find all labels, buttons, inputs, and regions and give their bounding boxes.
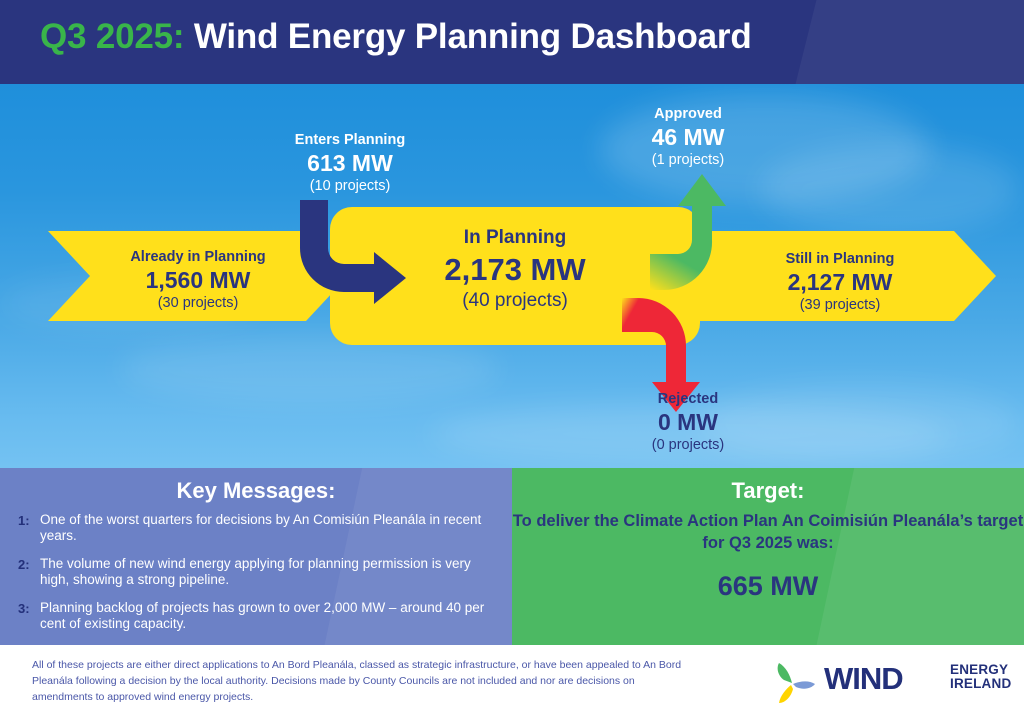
rejected-title: Rejected <box>588 391 788 407</box>
logo-wordmark: WIND <box>824 661 903 697</box>
in-planning-title: In Planning <box>330 227 700 248</box>
approved-label: Approved 46 MW (1 projects) <box>588 106 788 168</box>
key-message-number: 1: <box>18 512 40 545</box>
approved-value: 46 MW <box>588 125 788 151</box>
flow-diagram: Enters Planning 613 MW (10 projects) App… <box>0 84 1024 468</box>
enters-planning-title: Enters Planning <box>200 132 500 148</box>
wind-energy-ireland-logo: WIND ENERGY IRELAND <box>766 655 1001 710</box>
list-item: 3: Planning backlog of projects has grow… <box>18 600 488 633</box>
key-message-text: Planning backlog of projects has grown t… <box>40 600 488 633</box>
logo-subtext-line2: IRELAND <box>950 677 1011 691</box>
list-item: 1: One of the worst quarters for decisio… <box>18 512 488 545</box>
target-heading: Target: <box>512 468 1024 504</box>
logo-subtext-line1: ENERGY <box>950 663 1011 677</box>
page-title: Q3 2025: Wind Energy Planning Dashboard <box>40 17 752 57</box>
already-in-planning-projects: (30 projects) <box>48 295 348 311</box>
panels-row: Key Messages: 1: One of the worst quarte… <box>0 468 1024 645</box>
key-messages-panel: Key Messages: 1: One of the worst quarte… <box>0 468 512 645</box>
in-planning-label: In Planning 2,173 MW (40 projects) <box>330 227 700 311</box>
enters-planning-label: Enters Planning 613 MW (10 projects) <box>200 132 500 194</box>
still-in-planning-title: Still in Planning <box>700 251 980 267</box>
in-planning-projects: (40 projects) <box>330 290 700 311</box>
rejected-projects: (0 projects) <box>588 437 788 453</box>
logo-subtext: ENERGY IRELAND <box>950 663 1011 691</box>
key-messages-list: 1: One of the worst quarters for decisio… <box>0 512 512 633</box>
header-quarter: Q3 2025: <box>40 17 184 56</box>
rejected-label: Rejected 0 MW (0 projects) <box>588 391 788 453</box>
already-in-planning-label: Already in Planning 1,560 MW (30 project… <box>48 249 348 311</box>
list-item: 2: The volume of new wind energy applyin… <box>18 556 488 589</box>
key-message-number: 2: <box>18 556 40 589</box>
header-sheen <box>787 0 1024 84</box>
turbine-icon <box>766 659 818 705</box>
already-in-planning-value: 1,560 MW <box>48 268 348 294</box>
target-body-text: To deliver the Climate Action Plan An Co… <box>512 511 1024 555</box>
footer-disclaimer: All of these projects are either direct … <box>32 658 682 705</box>
header-title-text: Wind Energy Planning Dashboard <box>194 17 752 56</box>
approved-projects: (1 projects) <box>588 152 788 168</box>
approved-title: Approved <box>588 106 788 122</box>
key-message-text: One of the worst quarters for decisions … <box>40 512 488 545</box>
still-in-planning-projects: (39 projects) <box>700 297 980 313</box>
key-message-number: 3: <box>18 600 40 633</box>
still-in-planning-label: Still in Planning 2,127 MW (39 projects) <box>700 251 980 313</box>
target-panel: Target: To deliver the Climate Action Pl… <box>512 468 1024 645</box>
header-bar: Q3 2025: Wind Energy Planning Dashboard <box>0 0 1024 84</box>
rejected-value: 0 MW <box>588 410 788 436</box>
key-messages-heading: Key Messages: <box>0 468 512 504</box>
enters-planning-projects: (10 projects) <box>200 178 500 194</box>
enters-planning-value: 613 MW <box>200 151 500 177</box>
target-value: 665 MW <box>512 571 1024 602</box>
still-in-planning-value: 2,127 MW <box>700 270 980 296</box>
key-message-text: The volume of new wind energy applying f… <box>40 556 488 589</box>
in-planning-value: 2,173 MW <box>330 253 700 288</box>
already-in-planning-title: Already in Planning <box>48 249 348 265</box>
infographic-page: Q3 2025: Wind Energy Planning Dashboard <box>0 0 1024 720</box>
